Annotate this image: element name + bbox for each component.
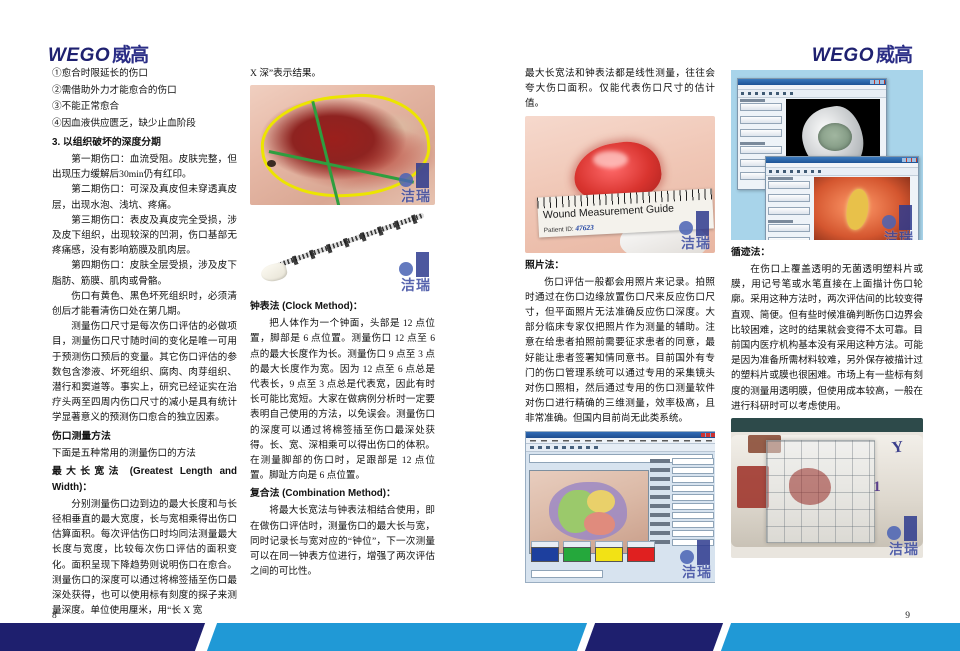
patient-form-panel[interactable] [650, 458, 714, 548]
paragraph-stage-4: 第四期伤口：皮肤全层受损，涉及皮下脂肪、筋膜、肌肉或骨骼。 [52, 258, 237, 288]
sidebar-button[interactable] [768, 237, 810, 240]
wound-area-left [737, 466, 770, 508]
figure-wound-outline: 洁瑞 [250, 85, 435, 205]
column-4: 洁瑞 循迹法： 在伤口上覆盖透明的无菌透明塑料片或膜，用记号笔或水笔直接在上面描… [731, 66, 923, 563]
paragraph-necrotic-tissue: 伤口有黄色、黑色坏死组织时，必须清创后才能看清伤口处在第几期。 [52, 289, 237, 319]
ruler-patient-id-value: 47623 [575, 223, 594, 233]
form-input[interactable] [672, 530, 714, 537]
paragraph-stage-1: 第一期伤口：血流受阻。皮肤完整，但出现压力缓解后30min仍有红印。 [52, 152, 237, 182]
watermark-text: 洁瑞 [682, 566, 712, 581]
list-item: ③不能正常愈合 [52, 99, 237, 116]
pen-mark-icon: Y [891, 440, 905, 457]
scan-window-texture[interactable]: 洁瑞 [765, 156, 919, 240]
section-heading-combination-method: 复合法 (Combination Method)： [250, 486, 435, 502]
form-label [650, 495, 670, 499]
control-group [768, 237, 810, 240]
brand-logo-cn: 威高 [112, 45, 148, 66]
band-segment-blue [721, 623, 960, 651]
paragraph-clock-method: 把人体作为一个钟面，头部是 12 点位置，脚部是 6 点位置。测量伤口 12 点… [250, 316, 435, 483]
paragraph-five-methods: 下面是五种常用的测量伤口的方法 [52, 446, 237, 461]
tissue-color-legend[interactable] [531, 547, 655, 562]
control-group [768, 220, 810, 232]
toolbar[interactable] [526, 444, 715, 452]
tracing-film-photo: Y 1 洁瑞 [731, 418, 923, 558]
group-label [740, 142, 765, 145]
form-label [650, 459, 670, 463]
form-row[interactable] [650, 485, 714, 492]
sidebar-button[interactable] [768, 224, 810, 232]
list-item: ②需借助外力才能愈合的伤口 [52, 83, 237, 100]
figure-3d-scan-software: 洁瑞 [731, 70, 923, 240]
form-row[interactable] [650, 467, 714, 474]
legend-swatch-blue[interactable] [531, 547, 559, 562]
legend-swatch-green[interactable] [563, 547, 591, 562]
form-row[interactable] [650, 512, 714, 519]
watermark: 洁瑞 [373, 252, 431, 292]
traced-wound-outline [789, 468, 831, 504]
legend-swatch-red[interactable] [627, 547, 655, 562]
paragraph-measurement-importance: 测量伤口尺寸是每次伤口评估的必做项目，测量伤口尺寸随时间的变化是唯一可用于预测伤… [52, 319, 237, 425]
figure-tracing-film: Y 1 洁瑞 [731, 418, 923, 558]
section-heading-measurement-methods: 伤口测量方法 [52, 429, 237, 445]
form-row[interactable] [650, 521, 714, 528]
sidebar-button[interactable] [740, 116, 782, 124]
wound-highlight [593, 151, 627, 167]
probe-graduation-marks [278, 211, 424, 269]
brand-logo-cn-right: 威高 [876, 45, 912, 66]
sidebar-button[interactable] [768, 194, 810, 202]
total-surface-area-input[interactable] [531, 570, 603, 578]
window-control-buttons-icon[interactable] [870, 80, 885, 84]
band-segment-blue [207, 623, 587, 651]
group-label [740, 99, 765, 102]
form-row[interactable] [650, 476, 714, 483]
control-group [740, 142, 782, 154]
wound-ruler-photo: Wound Measurement Guide Patient ID: 4762… [525, 116, 715, 253]
toolbar[interactable] [766, 168, 918, 176]
watermark-text: 洁瑞 [401, 190, 431, 205]
probe-image: 洁瑞 [250, 210, 435, 294]
ruler-patient-id-label: Patient ID: [544, 226, 574, 235]
toolbar[interactable] [738, 90, 886, 98]
form-input[interactable] [672, 476, 714, 483]
control-group [768, 177, 810, 189]
page-number-right: 9 [905, 611, 910, 621]
form-input[interactable] [672, 512, 714, 519]
brand-logo-en: WEGO [48, 45, 110, 66]
figure-wound-with-ruler: Wound Measurement Guide Patient ID: 4762… [525, 116, 715, 253]
legend-swatch-yellow[interactable] [595, 547, 623, 562]
control-group [740, 99, 782, 111]
list-item: ①愈合时限延长的伤口 [52, 66, 237, 83]
section-heading-clock-method: 钟表法 (Clock Method)： [250, 299, 435, 315]
wound-bed-highlight [844, 188, 871, 231]
group-label [768, 220, 793, 223]
form-input[interactable] [672, 539, 714, 546]
group-label [768, 177, 793, 180]
sidebar-controls[interactable] [768, 177, 810, 240]
form-row[interactable] [650, 458, 714, 465]
form-label [650, 504, 670, 508]
page-spread: ①愈合时限延长的伤口 ②需借助外力才能愈合的伤口 ③不能正常愈合 ④因血液供应匮… [0, 66, 960, 611]
band-segment-navy [0, 623, 205, 651]
window-control-buttons-icon[interactable] [701, 433, 715, 437]
sidebar-button[interactable] [740, 103, 782, 111]
brand-logo-right: WEGO威高 [812, 40, 912, 67]
section-heading-tracing-method: 循迹法： [731, 245, 923, 261]
segment-slough [587, 490, 615, 513]
form-label [650, 513, 670, 517]
control-group [768, 194, 810, 202]
form-label [650, 486, 670, 490]
watermark-square-icon [416, 252, 429, 277]
control-group [768, 207, 810, 215]
control-group [740, 116, 782, 124]
watermark-circle-icon [680, 550, 694, 564]
band-segment-navy [585, 623, 723, 651]
figure-measuring-probe: 洁瑞 [250, 210, 435, 294]
window-titlebar[interactable] [766, 157, 918, 163]
brand-logo-left: WEGO威高 [48, 40, 148, 67]
paragraph-tracing-method: 在伤口上覆盖透明的无菌透明塑料片或膜，用记号笔或水笔直接在上面描计伤口轮廓。采用… [731, 262, 923, 414]
paragraph-depth-result: X 深”表示结果。 [250, 66, 435, 81]
control-group [740, 129, 782, 137]
footer-decorative-band [0, 623, 960, 651]
texture-viewport[interactable] [814, 177, 910, 240]
window-titlebar[interactable] [526, 432, 715, 438]
page-number-left: 8 [52, 611, 57, 621]
wound-measurement-software-window[interactable]: 洁瑞 [525, 431, 715, 583]
section-heading-depth-staging: 3. 以组织破坏的深度分期 [52, 135, 237, 151]
watermark-text: 洁瑞 [401, 279, 431, 294]
section-heading-photo-method: 照片法： [525, 258, 715, 274]
ruler-patient-id-row: Patient ID: 47623 [544, 220, 595, 239]
column-3: 最大长宽法和钟表法都是线性测量，往往会夸大伤口面积。仅能代表伤口尺寸的估计值。 … [525, 66, 715, 588]
form-label [650, 477, 670, 481]
form-label [650, 531, 670, 535]
skin-nodule [267, 160, 276, 167]
sidebar-button[interactable] [740, 146, 782, 154]
wound-photo-image: 洁瑞 [250, 85, 435, 205]
section-heading-greatest-length-width: 最大长宽法 (Greatest Length and Width)： [52, 464, 237, 496]
probe-cotton-tip [259, 261, 288, 284]
form-row[interactable] [650, 503, 714, 510]
form-input[interactable] [672, 503, 714, 510]
form-input[interactable] [672, 521, 714, 528]
column-1: ①愈合时限延长的伤口 ②需借助外力才能愈合的伤口 ③不能正常愈合 ④因血液供应匮… [52, 66, 237, 618]
paragraph-stage-2: 第二期伤口：可深及真皮但未穿透真皮层，出现水泡、浅坑、疼痛。 [52, 182, 237, 212]
segment-necrosis [584, 512, 615, 535]
form-input[interactable] [672, 485, 714, 492]
wound-crater-region [818, 123, 852, 152]
wound-outline-marking [258, 89, 434, 203]
brand-logo-en-right: WEGO [812, 45, 874, 66]
column-2: X 深”表示结果。 洁瑞 [250, 66, 435, 579]
sidebar-button[interactable] [768, 181, 810, 189]
scan-software-screenshot[interactable]: 洁瑞 [731, 70, 923, 240]
window-titlebar[interactable] [738, 79, 886, 85]
form-input[interactable] [672, 494, 714, 501]
form-input[interactable] [672, 467, 714, 474]
pen-mark-2-icon: 1 [873, 480, 881, 495]
sidebar-button[interactable] [768, 207, 810, 215]
list-item: ④因血液供应匮乏，缺少止血阶段 [52, 116, 237, 133]
paragraph-combination-method: 将最大长宽法与钟表法相结合使用，即在做伤口评估时，测量伤口的最大长与宽，同时记录… [250, 503, 435, 579]
paragraph-stage-3: 第三期伤口：表皮及真皮完全受损，涉及皮下组织，出现较深的凹洞，伤口基部无疼痛感，… [52, 213, 237, 259]
figure-wound-software: 洁瑞 [525, 431, 715, 583]
form-row[interactable] [650, 530, 714, 537]
form-row[interactable] [650, 539, 714, 546]
form-row[interactable] [650, 494, 714, 501]
window-control-buttons-icon[interactable] [902, 158, 917, 162]
form-input[interactable] [672, 458, 714, 465]
sidebar-button[interactable] [740, 129, 782, 137]
paragraph-photo-method: 伤口评估一般都会用照片来记录。拍照时通过在伤口边缘放置伤口尺来反应伤口尺寸，但平… [525, 275, 715, 427]
watermark-circle-icon [399, 262, 413, 276]
form-label [650, 468, 670, 472]
paragraph-greatest-length-width: 分别测量伤口边到边的最大长度和与长径相垂直的最大宽度，长与宽相乘得出伤口估算面积… [52, 497, 237, 619]
paragraph-linear-estimate: 最大长宽法和钟表法都是线性测量，往往会夸大伤口面积。仅能代表伤口尺寸的估计值。 [525, 66, 715, 112]
form-label [650, 522, 670, 526]
